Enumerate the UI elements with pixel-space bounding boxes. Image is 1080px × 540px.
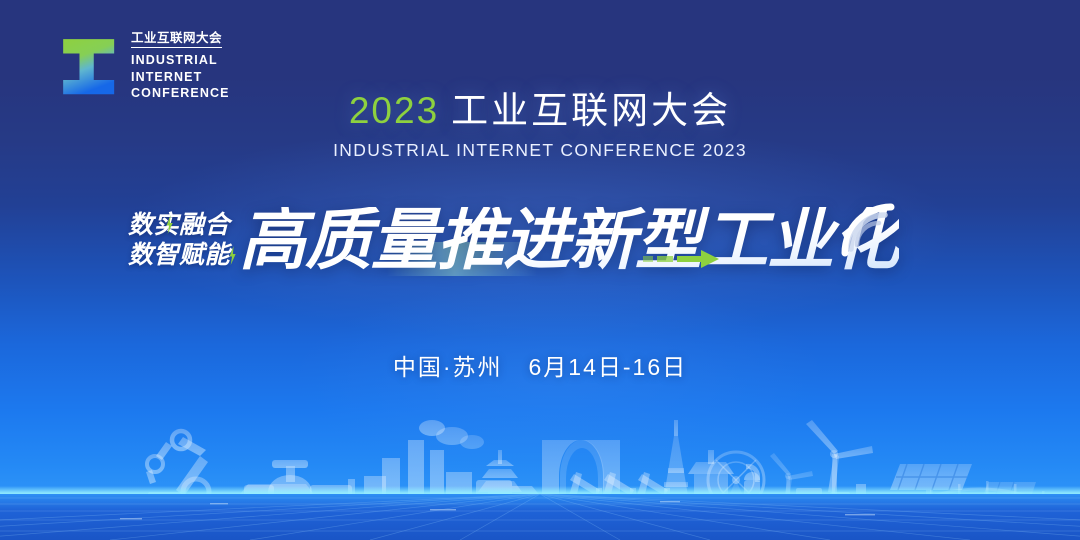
logo-lockup[interactable]: 工业互联网大会 INDUSTRIAL INTERNET CONFERENCE — [57, 30, 230, 102]
robotic-arm-icon — [146, 431, 209, 506]
factory-smokestacks-icon — [364, 420, 484, 506]
event-meta: 中国·苏州6月14日-16日 — [0, 348, 1080, 382]
storage-tanks-icon — [742, 464, 786, 510]
ferris-wheel-icon — [708, 452, 764, 510]
industrial-city-skyline — [0, 380, 1080, 540]
industrial-internet-conference-logo-icon — [57, 35, 119, 97]
ground-grid-lines — [0, 494, 1080, 540]
traditional-hall-icon — [234, 484, 320, 508]
gate-of-the-orient-icon — [542, 440, 620, 508]
cargo-trucks-icon — [796, 484, 886, 510]
title-english: INDUSTRIAL INTERNET CONFERENCE 2023 — [0, 140, 1080, 161]
pipeline-valve-icon — [244, 460, 355, 509]
logo-en-line-2: INTERNET — [131, 69, 230, 86]
event-location: 中国·苏州 — [393, 354, 503, 380]
slogan-subphrase-2-text: 数智赋能 — [128, 241, 230, 269]
perspective-ground — [0, 494, 1080, 540]
solar-panel-icon — [982, 482, 1036, 508]
title-main-row: 2023工业互联网大会 — [0, 92, 1080, 129]
skyline-right-logistics — [742, 464, 1058, 510]
oil-pumpjacks-icon — [566, 472, 670, 506]
slogan-block: 数实融合 数智赋能 高质量推进新型工业化 — [128, 182, 899, 274]
conference-banner: 工业互联网大会 INDUSTRIAL INTERNET CONFERENCE 2… — [0, 0, 1080, 540]
event-dates: 6月14日-16日 — [529, 354, 688, 380]
slogan-main-text: 高质量推进新型工业化 — [239, 207, 899, 274]
pagoda-icon — [478, 450, 522, 508]
logo-chinese-name: 工业互联网大会 — [131, 32, 222, 48]
title-chinese: 工业互联网大会 — [451, 90, 731, 131]
wind-turbine-icon — [806, 420, 873, 508]
logo-wordmark: 工业互联网大会 INDUSTRIAL INTERNET CONFERENCE — [131, 30, 230, 102]
title-year: 2023 — [349, 90, 439, 131]
horizon-light-line — [0, 486, 1080, 502]
arch-bridge-icon — [902, 481, 1058, 508]
skyline-city — [234, 420, 1036, 510]
slogan-subphrase-1: 数实融合 — [128, 213, 230, 238]
wind-turbine-icon — [770, 453, 813, 508]
slogan-subphrases: 数实融合 数智赋能 — [128, 213, 230, 274]
industrial-truck-icon — [476, 480, 558, 511]
pavilion-icon — [688, 450, 734, 506]
slogan-subphrase-1-text: 数实融合 — [128, 211, 230, 239]
slogan-subphrase-2: 数智赋能 — [128, 243, 230, 268]
title-block: 2023工业互联网大会 INDUSTRIAL INTERNET CONFEREN… — [0, 92, 1080, 161]
skyline-left-industrial — [146, 420, 670, 511]
solar-panel-icon — [890, 464, 972, 508]
tv-tower-icon — [662, 420, 690, 508]
logo-en-line-1: INDUSTRIAL — [131, 52, 230, 69]
